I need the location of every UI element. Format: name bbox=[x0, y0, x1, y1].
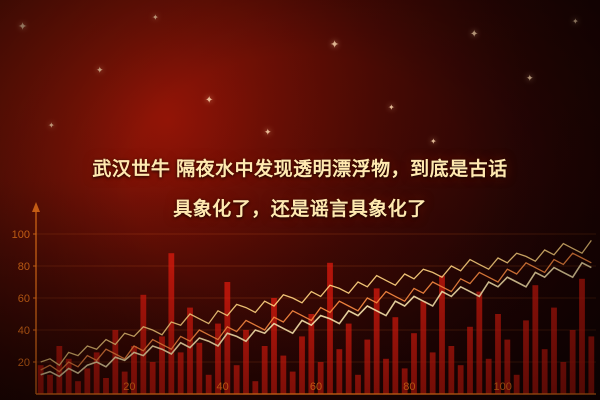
headline-text: 武汉世牛 隔夜水中发现透明漂浮物，到底是古话 具象化了，还是谣言具象化了 bbox=[0, 150, 600, 230]
headline-line-2: 具象化了，还是谣言具象化了 bbox=[8, 190, 592, 230]
headline-line-1: 武汉世牛 隔夜水中发现透明漂浮物，到底是古话 bbox=[92, 159, 507, 180]
image-canvas: ✦✦✦✦✦✦✦✦✦✦✦✦ 2040608010020406080100 武汉世牛… bbox=[0, 0, 600, 400]
